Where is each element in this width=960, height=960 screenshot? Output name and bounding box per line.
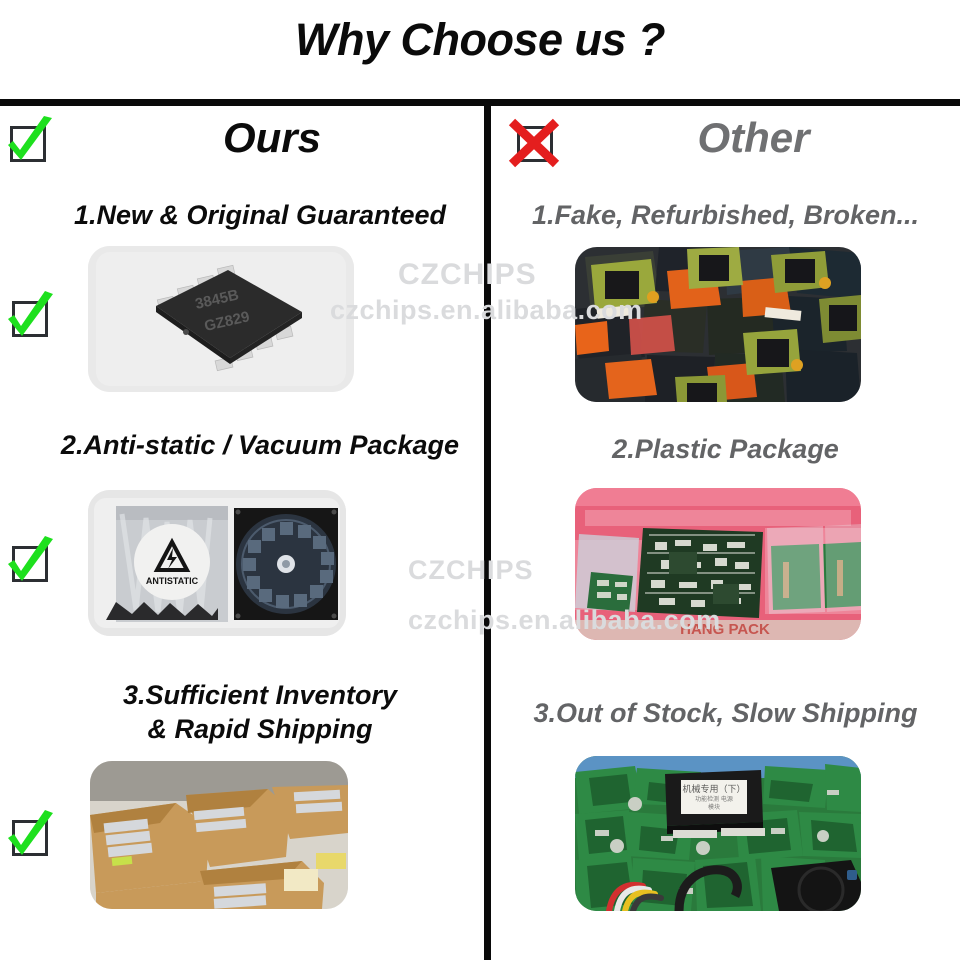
plastic-package-photo: HANG PACK	[575, 488, 861, 640]
inventory-boxes-photo	[90, 761, 348, 909]
page-title: Why Choose us ?	[0, 14, 960, 66]
ours-column: Ours 1.New & Original Guaranteed	[0, 106, 484, 960]
svg-text:模块: 模块	[708, 803, 720, 811]
ours-heading: Ours	[0, 114, 514, 162]
red-cross-icon	[511, 120, 557, 166]
svg-text:ANTISTATIC: ANTISTATIC	[146, 576, 199, 586]
ours-feature-1-label: 1.New & Original Guaranteed	[0, 198, 502, 232]
green-check-icon	[6, 295, 52, 341]
column-divider	[484, 106, 491, 960]
new-original-chip-photo: 3845B GZ829	[88, 246, 354, 392]
green-check-icon	[6, 540, 52, 586]
other-feature-3-label: 3.Out of Stock, Slow Shipping	[491, 696, 960, 730]
ours-feature-2-label: 2.Anti-static / Vacuum Package	[0, 428, 502, 462]
pcb-scrap-pile-photo: 机械专用（下） 功能检测 电源 模块	[575, 756, 861, 911]
other-heading: Other	[491, 114, 960, 162]
ours-feature-3-label: 3.Sufficient Inventory & Rapid Shipping	[0, 678, 502, 746]
why-choose-us-comparison-graphic: Why Choose us ? Ours 1.New & Original Gu…	[0, 0, 960, 960]
svg-text:机械专用（下）: 机械专用（下）	[682, 783, 745, 794]
other-feature-1-label: 1.Fake, Refurbished, Broken...	[491, 198, 960, 232]
green-check-icon	[6, 814, 52, 860]
bag-text: HANG PACK	[680, 621, 770, 638]
svg-text:功能检测 电源: 功能检测 电源	[695, 795, 733, 803]
antistatic-vacuum-package-photo: ANTISTATIC	[88, 490, 346, 636]
scrap-cpu-pile-photo	[575, 247, 861, 402]
other-column: Other 1.Fake, Refurbished, Broken...	[491, 106, 960, 960]
green-check-icon	[4, 120, 50, 166]
other-feature-2-label: 2.Plastic Package	[491, 432, 960, 466]
header-divider	[0, 99, 960, 106]
